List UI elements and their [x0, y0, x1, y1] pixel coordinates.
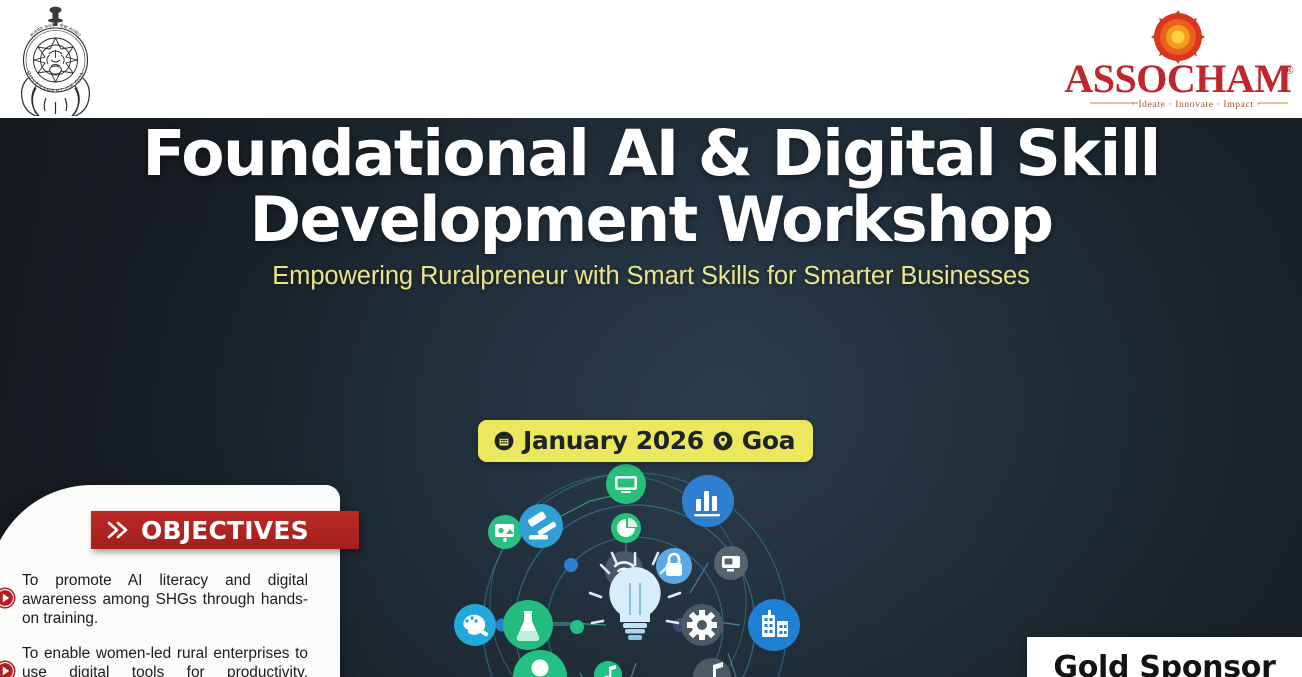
hero-banner: Foundational AI & Digital Skill Developm…	[0, 118, 1302, 677]
objective-item: To promote AI literacy and digital aware…	[0, 571, 340, 628]
objective-item: To enable women-led rural enterprises to…	[0, 644, 340, 677]
node-office-building-icon	[748, 599, 800, 651]
assocham-logo: ASSOCHAM ® · Ideate · Innovate · Impact …	[1060, 8, 1296, 112]
node-lab-flask-icon	[503, 600, 553, 650]
sponsor-label: Gold Sponsor	[1027, 650, 1302, 677]
node-music-note-icon	[693, 658, 731, 677]
objectives-header: OBJECTIVES	[91, 511, 359, 549]
event-date: January 2026	[523, 426, 704, 455]
node-gavel-auction-icon	[519, 504, 563, 548]
svg-text:सत्यमेव जयते · गोवा सरकार: सत्यमेव जयते · गोवा सरकार	[29, 22, 82, 38]
objectives-title: OBJECTIVES	[141, 516, 309, 545]
poster-header: सत्यमेव जयते · गोवा सरकार GOVERNMENT OF …	[0, 0, 1302, 118]
node-gear-settings-icon	[681, 604, 723, 646]
page-title-line2: Development Workshop	[0, 190, 1302, 250]
node-pie-chart-icon	[611, 513, 641, 543]
hero-title-block: Foundational AI & Digital Skill Developm…	[0, 124, 1302, 291]
node-lock-security-icon	[656, 548, 692, 584]
event-meta-badge: January 2026 Goa	[478, 420, 813, 462]
node-user-profile-icon	[513, 650, 567, 677]
objective-text: To enable women-led rural enterprises to…	[22, 644, 308, 677]
node-monitor-screen-icon	[606, 464, 646, 504]
node-bar-chart-icon	[682, 475, 734, 527]
play-arrow-circle-icon	[0, 571, 22, 609]
play-arrow-circle-icon	[0, 644, 22, 677]
page-title-line1: Foundational AI & Digital Skill	[0, 124, 1302, 184]
event-location: Goa	[742, 426, 795, 455]
workshop-poster: सत्यमेव जयते · गोवा सरकार GOVERNMENT OF …	[0, 0, 1302, 677]
registered-mark: ®	[1284, 62, 1294, 77]
node-desktop-display-icon	[714, 546, 748, 580]
calendar-icon	[494, 431, 514, 451]
node-presentation-board-icon	[488, 515, 522, 549]
node-music-note-small-icon	[594, 661, 622, 677]
center-lightbulb-idea-icon	[590, 553, 680, 640]
location-pin-icon	[713, 431, 733, 451]
objectives-card: OBJECTIVES To promote AI literacy and di…	[0, 485, 340, 677]
node-palette-art-icon	[454, 604, 496, 646]
double-chevron-right-icon	[105, 519, 129, 541]
objectives-list: To promote AI literacy and digital aware…	[0, 571, 340, 677]
assocham-wordmark: ASSOCHAM	[1064, 56, 1291, 101]
assocham-tagline: · Ideate · Innovate · Impact ·	[1132, 99, 1261, 110]
government-of-goa-emblem: सत्यमेव जयते · गोवा सरकार GOVERNMENT OF …	[8, 2, 103, 116]
gold-sponsor-panel: Gold Sponsor GOA STATE RURAL LIVELIHOOD …	[1027, 637, 1302, 677]
ai-network-illustration	[440, 453, 830, 677]
page-subtitle: Empowering Ruralpreneur with Smart Skill…	[0, 262, 1302, 291]
objective-text: To promote AI literacy and digital aware…	[22, 571, 308, 628]
